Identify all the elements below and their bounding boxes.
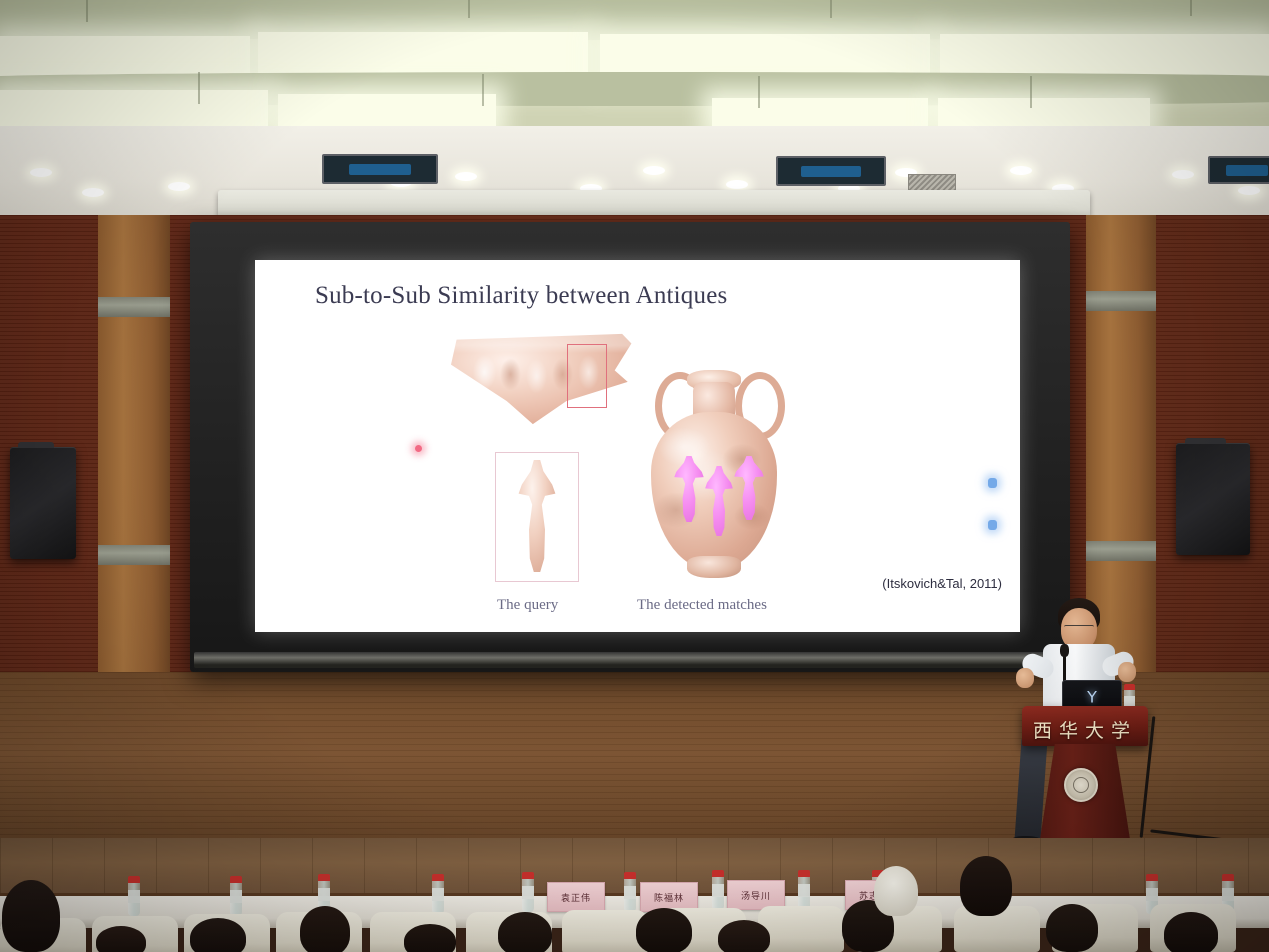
podium-lectern: 西华大学 — [1022, 706, 1148, 746]
laser-pointer-dot — [415, 445, 422, 452]
presenter-glasses — [1064, 625, 1094, 631]
table-water-bottle — [230, 876, 242, 916]
audience-head — [300, 906, 350, 952]
laptop-logo: Y — [1087, 688, 1097, 707]
ceiling-projector — [322, 154, 438, 184]
query-caption: The query — [497, 597, 558, 614]
downlight — [455, 172, 477, 181]
projection-screen: Sub-to-Sub Similarity between Antiques T… — [190, 222, 1070, 672]
downlight — [726, 180, 748, 189]
downlight — [643, 166, 665, 175]
presentation-slide: Sub-to-Sub Similarity between Antiques T… — [255, 260, 1020, 632]
downlight — [82, 188, 104, 197]
pottery-shard-figure — [451, 332, 637, 428]
presenter-hand-right — [1118, 662, 1136, 682]
slide-citation: (Itskovich&Tal, 2011) — [882, 576, 1002, 591]
table-water-bottle — [432, 874, 444, 914]
microphone-head — [1060, 644, 1069, 657]
audience-head — [498, 912, 552, 952]
shard-surface-texture — [451, 332, 637, 428]
table-namecard: 袁正伟 — [547, 882, 605, 912]
slide-title: Sub-to-Sub Similarity between Antiques — [315, 282, 727, 310]
table-water-bottle — [624, 872, 636, 912]
audience-head — [404, 924, 456, 952]
audience-head — [718, 920, 770, 952]
lecture-hall-scene: Sub-to-Sub Similarity between Antiques T… — [0, 0, 1269, 952]
audience-head — [636, 908, 692, 952]
table-water-bottle — [798, 870, 810, 910]
downlight — [30, 168, 52, 177]
downlight — [168, 182, 190, 191]
downlight — [1238, 186, 1260, 195]
audience-head — [1046, 904, 1098, 952]
audience-head — [96, 926, 146, 952]
wall-speaker-left — [10, 447, 76, 559]
audience-seat — [758, 906, 844, 952]
podium-university-seal — [1064, 768, 1098, 802]
matches-caption: The detected matches — [637, 597, 767, 614]
table-water-bottle — [522, 872, 534, 912]
audience-head — [874, 866, 918, 916]
slide-nav-dot — [988, 478, 997, 488]
shard-selection-rectangle — [567, 344, 607, 408]
podium-university-text: 西华大学 — [1022, 716, 1148, 743]
table-water-bottle — [128, 876, 140, 916]
downlight — [1010, 166, 1032, 175]
audience-head — [2, 880, 60, 952]
vase-foot — [687, 556, 741, 578]
audience-head — [190, 918, 246, 952]
downlight — [1172, 170, 1194, 179]
ceiling-coves — [0, 0, 1269, 132]
audience-head — [960, 856, 1012, 916]
ceiling-projector — [776, 156, 886, 186]
presenter-hand-left — [1016, 668, 1034, 688]
slide-nav-dot — [988, 520, 997, 530]
table-water-bottle — [712, 870, 724, 910]
audience-head — [1164, 912, 1218, 952]
ceiling-projector — [1208, 156, 1269, 184]
wall-speaker-right — [1176, 443, 1250, 555]
